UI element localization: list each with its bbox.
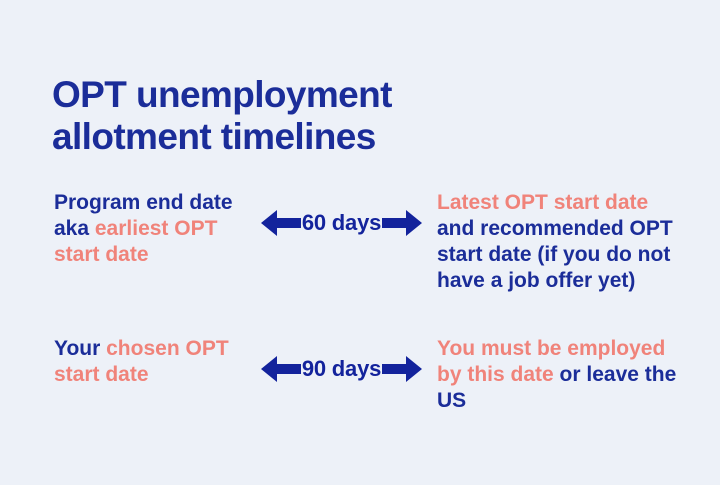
text-run-navy: Your: [54, 337, 106, 360]
row-90-right-text: You must be employed by this date or lea…: [437, 336, 682, 414]
row-60-right-text: Latest OPT start date and recommended OP…: [437, 190, 682, 294]
row-90-duration-label: 90 days: [301, 358, 382, 380]
row-90-arrow-group: 90 days: [254, 354, 429, 384]
text-run-coral: Latest OPT start date: [437, 191, 648, 214]
row-90-left-text: Your chosen OPT start date: [54, 336, 254, 388]
text-run-navy: and recommended OPT start date (if you d…: [437, 217, 673, 292]
arrow-right-icon: [382, 354, 422, 384]
row-60-left-text: Program end date aka earliest OPT start …: [54, 190, 254, 268]
arrow-left-icon: [261, 354, 301, 384]
opt-timeline-infographic: OPT unemployment allotment timelines Pro…: [0, 0, 720, 485]
timeline-row-60-days: Program end date aka earliest OPT start …: [0, 190, 720, 294]
arrow-left-icon: [261, 208, 301, 238]
row-60-arrow-group: 60 days: [254, 208, 429, 238]
timeline-row-90-days: Your chosen OPT start date 90 days You m…: [0, 336, 720, 414]
row-60-duration-label: 60 days: [301, 212, 382, 234]
arrow-right-icon: [382, 208, 422, 238]
page-title: OPT unemployment allotment timelines: [52, 74, 652, 158]
